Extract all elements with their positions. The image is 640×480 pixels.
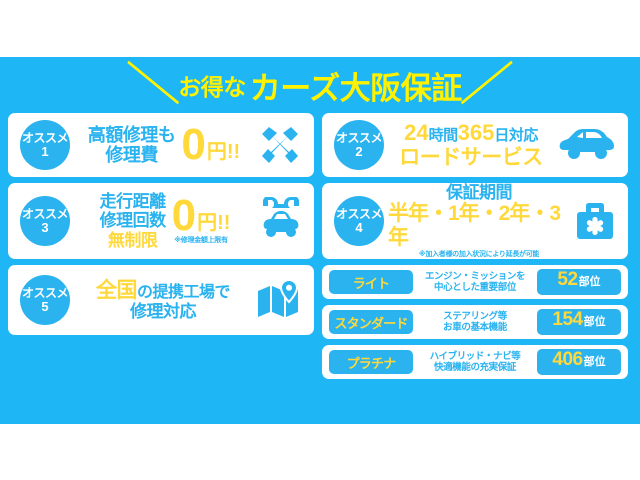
feature-card-2-body: 24 時間 365 日対応 ロードサービス	[384, 121, 558, 169]
plan-name-badge: ライト	[329, 270, 413, 294]
map-pin-icon	[256, 280, 302, 320]
feature-card-5-line1-highlight: 全国	[96, 279, 137, 302]
plan-description: ハイブリッド・ナビ等 快適機能の充実保証	[419, 351, 531, 374]
feature-card-5-line1-rest: の提携工場で	[137, 284, 230, 301]
feature-card-4-body: 保証期間 半年・1年・2年・3年 ※加入者様の加入状況により延長が可能	[384, 183, 574, 259]
plan-description-line2: お車の基本機能	[419, 322, 531, 333]
feature-card-5-body: 全国の提携工場で 修理対応	[70, 279, 256, 322]
feature-card-2-text: 24 時間 365 日対応 ロードサービス	[399, 121, 543, 169]
feature-card-1-line2: 修理費	[105, 145, 158, 165]
plan-description: エンジン・ミッションを 中心とした重要部位	[419, 271, 531, 294]
hours-unit: 時間	[429, 128, 458, 145]
badge-label: オススメ	[22, 208, 68, 220]
plan-description-line1: エンジン・ミッションを	[419, 271, 531, 282]
feature-card-5-text: 全国の提携工場で 修理対応	[96, 279, 230, 322]
plan-row-platinum[interactable]: プラチナ ハイブリッド・ナビ等 快適機能の充実保証 406 部位	[322, 345, 628, 379]
plan-count-number: 52	[557, 269, 577, 291]
plan-name-badge: プラチナ	[329, 350, 413, 374]
price-number: 0	[181, 126, 205, 163]
feature-card-2-line1: 24 時間 365 日対応	[404, 121, 538, 146]
feature-card-3-line1: 走行距離	[100, 192, 166, 211]
feature-card-3-price-block: 0 円!! ※修理金額上限有	[172, 197, 231, 244]
plan-count-badge: 52 部位	[537, 269, 621, 295]
plan-description: ステアリング等 お車の基本機能	[419, 311, 531, 334]
badge-number: 5	[41, 300, 48, 313]
plan-name-badge: スタンダード	[329, 310, 413, 334]
badge-number: 2	[355, 145, 362, 158]
feature-card-1-text: 高額修理も 修理費	[88, 125, 176, 165]
feature-card-5[interactable]: オススメ 5 全国の提携工場で 修理対応	[8, 265, 314, 335]
title-slash-left-icon: ＼	[127, 63, 182, 108]
feature-card-3-line2: 修理回数	[100, 211, 166, 230]
feature-card-1-line1: 高額修理も	[88, 125, 176, 145]
plan-description-line2: 中心とした重要部位	[419, 282, 531, 293]
recommend-badge-5: オススメ 5	[20, 275, 70, 325]
feature-card-1-price: 0 円!!	[181, 126, 240, 163]
title-slash-right-icon: ／	[458, 63, 513, 108]
warranty-banner: ＼ お得な カーズ大阪保証 ／ オススメ 1 高額修理も 修理費 0	[0, 57, 640, 424]
plan-count-badge: 406 部位	[537, 349, 621, 375]
feature-card-4[interactable]: オススメ 4 保証期間 半年・1年・2年・3年 ※加入者様の加入状況により延長が…	[322, 183, 628, 259]
badge-label: オススメ	[22, 132, 68, 144]
badge-number: 4	[355, 221, 362, 234]
recommend-badge-1: オススメ 1	[20, 120, 70, 170]
feature-card-1-body: 高額修理も 修理費 0 円!!	[70, 125, 258, 165]
feature-card-3-body: 走行距離 修理回数 無制限 0 円!! ※修理金額上限有	[70, 192, 260, 249]
badge-label: オススメ	[336, 132, 382, 144]
title-main: カーズ大阪保証	[250, 63, 462, 108]
hammer-chisel-icon	[258, 125, 302, 165]
wrench-car-icon	[260, 195, 302, 247]
feature-card-1[interactable]: オススメ 1 高額修理も 修理費 0 円!!	[8, 113, 314, 177]
badge-label: オススメ	[22, 287, 68, 299]
days-number: 365	[458, 121, 495, 146]
feature-card-2[interactable]: オススメ 2 24 時間 365 日対応 ロードサービス	[322, 113, 628, 177]
price-unit: 円!!	[207, 135, 240, 164]
title-prefix: お得な	[178, 68, 246, 102]
feature-card-4-note: ※加入者様の加入状況により延長が可能	[419, 251, 539, 259]
recommend-badge-3: オススメ 3	[20, 196, 70, 246]
feature-card-4-text: 保証期間 半年・1年・2年・3年 ※加入者様の加入状況により延長が可能	[388, 183, 570, 259]
plan-row-standard[interactable]: スタンダード ステアリング等 お車の基本機能 154 部位	[322, 305, 628, 339]
feature-card-3-line3: 無制限	[108, 231, 158, 250]
hours-number: 24	[404, 121, 428, 146]
plan-description-line1: ステアリング等	[419, 311, 531, 322]
plan-description-line2: 快適機能の充実保証	[419, 362, 531, 373]
banner-title: ＼ お得な カーズ大阪保証 ／	[8, 57, 632, 113]
recommend-badge-4: オススメ 4	[334, 196, 384, 246]
plan-count-number: 154	[552, 309, 582, 331]
plan-row-light[interactable]: ライト エンジン・ミッションを 中心とした重要部位 52 部位	[322, 265, 628, 299]
feature-card-4-line2: 半年・1年・2年・3年	[388, 202, 570, 249]
feature-card-4-line1: 保証期間	[446, 183, 512, 202]
advertisement-image: ＼ お得な カーズ大阪保証 ／ オススメ 1 高額修理も 修理費 0	[0, 0, 640, 480]
plan-count-badge: 154 部位	[537, 309, 621, 335]
badge-label: オススメ	[336, 208, 382, 220]
feature-card-3-text: 走行距離 修理回数 無制限	[100, 192, 166, 249]
days-unit: 日対応	[494, 128, 538, 145]
plan-count-unit: 部位	[579, 273, 601, 289]
feature-card-3-price: 0 円!!	[172, 197, 231, 234]
feature-grid: オススメ 1 高額修理も 修理費 0 円!!	[8, 113, 632, 379]
feature-card-5-line2: 修理対応	[130, 302, 196, 321]
toolbox-icon	[574, 200, 616, 242]
plan-list: ライト エンジン・ミッションを 中心とした重要部位 52 部位 スタンダード ス…	[322, 265, 628, 379]
plan-description-line1: ハイブリッド・ナビ等	[419, 351, 531, 362]
feature-card-5-line1: 全国の提携工場で	[96, 279, 230, 303]
badge-number: 3	[41, 221, 48, 234]
plan-count-unit: 部位	[584, 353, 606, 369]
badge-number: 1	[41, 145, 48, 158]
plan-count-number: 406	[552, 349, 582, 371]
car-side-icon	[558, 128, 616, 162]
plan-count-unit: 部位	[584, 313, 606, 329]
feature-card-2-line2: ロードサービス	[399, 146, 543, 170]
price-number: 0	[172, 197, 196, 234]
recommend-badge-2: オススメ 2	[334, 120, 384, 170]
price-unit: 円!!	[197, 212, 230, 234]
feature-card-3[interactable]: オススメ 3 走行距離 修理回数 無制限 0 円!! ※修理金額上限有	[8, 183, 314, 259]
